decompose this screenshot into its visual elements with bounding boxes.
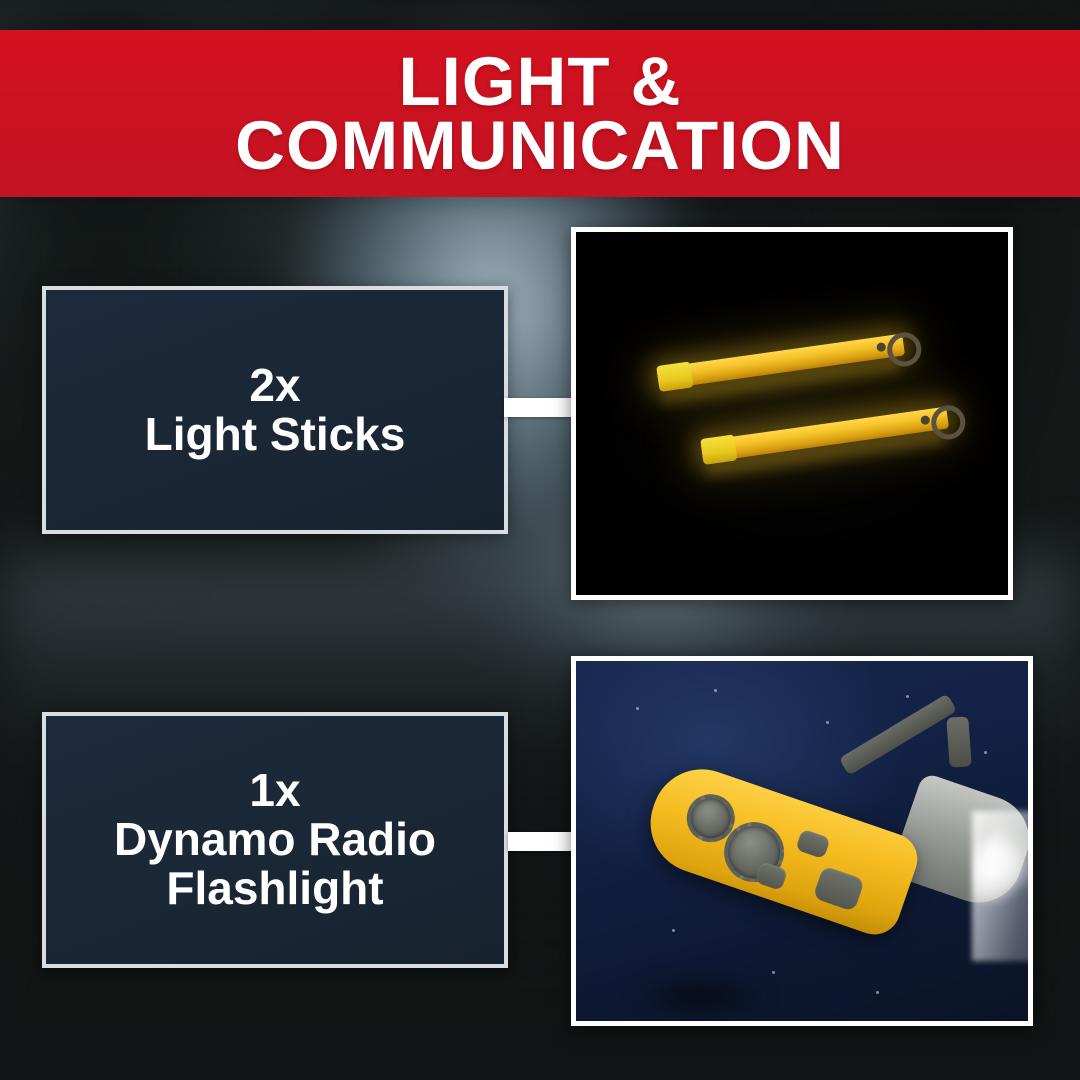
star-icon — [906, 695, 909, 698]
glow-stick-cap-icon — [656, 361, 693, 391]
header-banner: LIGHT & COMMUNICATION — [0, 30, 1080, 197]
item-label-box-dynamo-radio-flashlight[interactable]: 1x Dynamo Radio Flashlight — [42, 712, 508, 968]
banner-title: LIGHT & COMMUNICATION — [211, 50, 869, 177]
star-icon — [636, 707, 639, 710]
connector-bar-dynamo-radio-flashlight — [508, 832, 578, 851]
glow-stick-hole-icon — [876, 342, 886, 352]
flashlight-scene — [576, 661, 1028, 1021]
flashlight-button-two — [754, 861, 788, 891]
item-photo-dynamo-radio-flashlight[interactable] — [571, 656, 1033, 1026]
star-icon — [984, 751, 987, 754]
item-label-box-light-sticks[interactable]: 2x Light Sticks — [42, 286, 508, 534]
item-name: Light Sticks — [145, 410, 406, 459]
glow-stick-cap-icon — [700, 434, 737, 464]
star-icon — [826, 721, 829, 724]
emergency-kit-product-card: LIGHT & COMMUNICATION 2x Light Sticks 1x… — [0, 0, 1080, 1080]
item-name: Dynamo Radio Flashlight — [114, 815, 436, 913]
glow-stick-scene — [576, 232, 1008, 595]
connector-bar-light-sticks — [504, 398, 576, 417]
item-photo-light-sticks[interactable] — [571, 227, 1013, 600]
flashlight-ground-shadow — [606, 961, 796, 1026]
star-icon — [714, 689, 717, 692]
star-icon — [876, 991, 879, 994]
flashlight-power-button — [812, 865, 865, 911]
flashlight-button-one — [795, 829, 831, 860]
flashlight-crank-tip — [946, 716, 971, 767]
flashlight-crank-handle — [839, 694, 957, 776]
flashlight-body — [637, 756, 924, 942]
star-icon — [672, 929, 675, 932]
item-quantity: 1x — [249, 767, 300, 815]
item-quantity: 2x — [249, 362, 300, 410]
glow-stick-hole-icon — [920, 415, 930, 425]
